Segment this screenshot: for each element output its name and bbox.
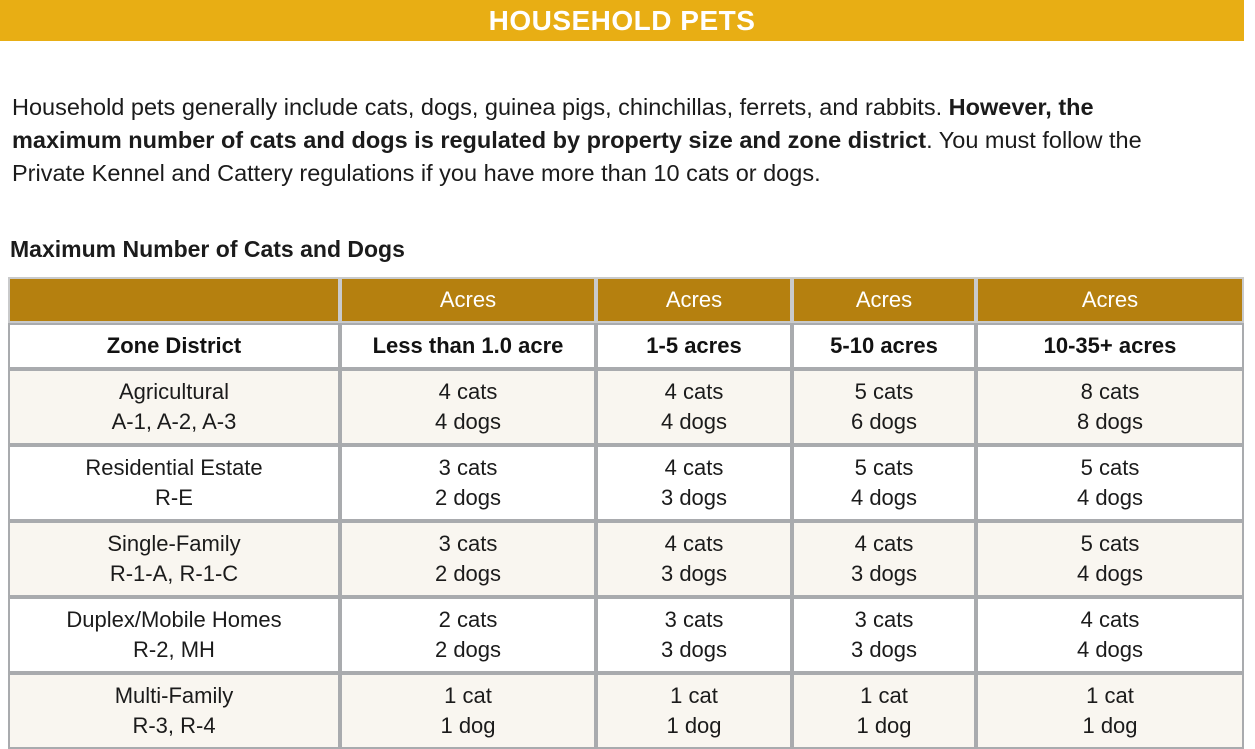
table-row: Residential EstateR-E3 cats2 dogs4 cats3… (8, 445, 1244, 521)
table-header-band-row: AcresAcresAcresAcres (8, 277, 1244, 323)
pet-limit-cell-3: 5 cats6 dogs (792, 369, 976, 445)
dog-limit: 4 dogs (978, 559, 1242, 589)
cat-limit: 4 cats (598, 377, 790, 407)
column-header-zone-district: Zone District (8, 323, 340, 369)
dog-limit: 1 dog (978, 711, 1242, 741)
dog-limit: 4 dogs (794, 483, 974, 513)
zone-district-codes: A-1, A-2, A-3 (10, 407, 338, 437)
table-header-acres-label-1: Acres (340, 277, 596, 323)
dog-limit: 2 dogs (342, 635, 594, 665)
zone-district-codes: R-3, R-4 (10, 711, 338, 741)
cat-limit: 1 cat (342, 681, 594, 711)
dog-limit: 2 dogs (342, 483, 594, 513)
dog-limit: 2 dogs (342, 559, 594, 589)
dog-limit: 3 dogs (794, 635, 974, 665)
dog-limit: 3 dogs (598, 483, 790, 513)
cat-limit: 4 cats (598, 529, 790, 559)
pet-limit-cell-2: 4 cats3 dogs (596, 521, 792, 597)
max-pets-table-container: AcresAcresAcresAcresZone DistrictLess th… (8, 277, 1244, 749)
pet-limit-cell-1: 3 cats2 dogs (340, 521, 596, 597)
cat-limit: 5 cats (978, 453, 1242, 483)
zone-district-cell: Residential EstateR-E (8, 445, 340, 521)
pet-limit-cell-3: 4 cats3 dogs (792, 521, 976, 597)
table-header-corner-blank (8, 277, 340, 323)
table-header-acres-label-3: Acres (792, 277, 976, 323)
cat-limit: 1 cat (978, 681, 1242, 711)
pet-limit-cell-4: 5 cats4 dogs (976, 445, 1244, 521)
cat-limit: 1 cat (598, 681, 790, 711)
table-header-acres-label-2: Acres (596, 277, 792, 323)
cat-limit: 3 cats (598, 605, 790, 635)
cat-limit: 3 cats (342, 453, 594, 483)
pet-limit-cell-1: 3 cats2 dogs (340, 445, 596, 521)
zone-district-name: Residential Estate (10, 453, 338, 483)
dog-limit: 4 dogs (598, 407, 790, 437)
pet-limit-cell-3: 3 cats3 dogs (792, 597, 976, 673)
dog-limit: 6 dogs (794, 407, 974, 437)
pet-limit-cell-1: 2 cats2 dogs (340, 597, 596, 673)
page-banner: HOUSEHOLD PETS (0, 0, 1244, 41)
cat-limit: 8 cats (978, 377, 1242, 407)
pet-limit-cell-1: 4 cats4 dogs (340, 369, 596, 445)
cat-limit: 3 cats (794, 605, 974, 635)
zone-district-cell: AgriculturalA-1, A-2, A-3 (8, 369, 340, 445)
dog-limit: 1 dog (794, 711, 974, 741)
dog-limit: 3 dogs (794, 559, 974, 589)
dog-limit: 1 dog (342, 711, 594, 741)
dog-limit: 4 dogs (978, 483, 1242, 513)
table-subheader-row: Zone DistrictLess than 1.0 acre1-5 acres… (8, 323, 1244, 369)
table-heading: Maximum Number of Cats and Dogs (10, 238, 405, 261)
table-row: Duplex/Mobile HomesR-2, MH2 cats2 dogs3 … (8, 597, 1244, 673)
dog-limit: 3 dogs (598, 559, 790, 589)
cat-limit: 1 cat (794, 681, 974, 711)
page-title: HOUSEHOLD PETS (489, 7, 756, 35)
zone-district-codes: R-2, MH (10, 635, 338, 665)
zone-district-codes: R-E (10, 483, 338, 513)
column-header-acreage-3: 5-10 acres (792, 323, 976, 369)
dog-limit: 4 dogs (978, 635, 1242, 665)
cat-limit: 4 cats (978, 605, 1242, 635)
zone-district-name: Duplex/Mobile Homes (10, 605, 338, 635)
zone-district-cell: Single-FamilyR-1-A, R-1-C (8, 521, 340, 597)
zone-district-cell: Duplex/Mobile HomesR-2, MH (8, 597, 340, 673)
pet-limit-cell-2: 4 cats4 dogs (596, 369, 792, 445)
column-header-acreage-4: 10-35+ acres (976, 323, 1244, 369)
column-header-acreage-1: Less than 1.0 acre (340, 323, 596, 369)
pet-limit-cell-2: 4 cats3 dogs (596, 445, 792, 521)
pet-limit-cell-4: 5 cats4 dogs (976, 521, 1244, 597)
pet-limit-cell-2: 3 cats3 dogs (596, 597, 792, 673)
dog-limit: 1 dog (598, 711, 790, 741)
cat-limit: 3 cats (342, 529, 594, 559)
cat-limit: 4 cats (342, 377, 594, 407)
dog-limit: 4 dogs (342, 407, 594, 437)
cat-limit: 5 cats (978, 529, 1242, 559)
cat-limit: 4 cats (794, 529, 974, 559)
table-row: Single-FamilyR-1-A, R-1-C3 cats2 dogs4 c… (8, 521, 1244, 597)
table-row: AgriculturalA-1, A-2, A-34 cats4 dogs4 c… (8, 369, 1244, 445)
cat-limit: 4 cats (598, 453, 790, 483)
intro-paragraph: Household pets generally include cats, d… (12, 91, 1197, 190)
pet-limit-cell-4: 8 cats8 dogs (976, 369, 1244, 445)
cat-limit: 5 cats (794, 453, 974, 483)
dog-limit: 8 dogs (978, 407, 1242, 437)
pet-limit-cell-3: 5 cats4 dogs (792, 445, 976, 521)
pet-limit-cell-4: 4 cats4 dogs (976, 597, 1244, 673)
max-pets-table: AcresAcresAcresAcresZone DistrictLess th… (8, 277, 1244, 749)
dog-limit: 3 dogs (598, 635, 790, 665)
zone-district-name: Single-Family (10, 529, 338, 559)
table-header-acres-label-4: Acres (976, 277, 1244, 323)
zone-district-name: Multi-Family (10, 681, 338, 711)
cat-limit: 5 cats (794, 377, 974, 407)
intro-text-part-1: Household pets generally include cats, d… (12, 94, 949, 120)
column-header-acreage-2: 1-5 acres (596, 323, 792, 369)
zone-district-codes: R-1-A, R-1-C (10, 559, 338, 589)
cat-limit: 2 cats (342, 605, 594, 635)
zone-district-name: Agricultural (10, 377, 338, 407)
